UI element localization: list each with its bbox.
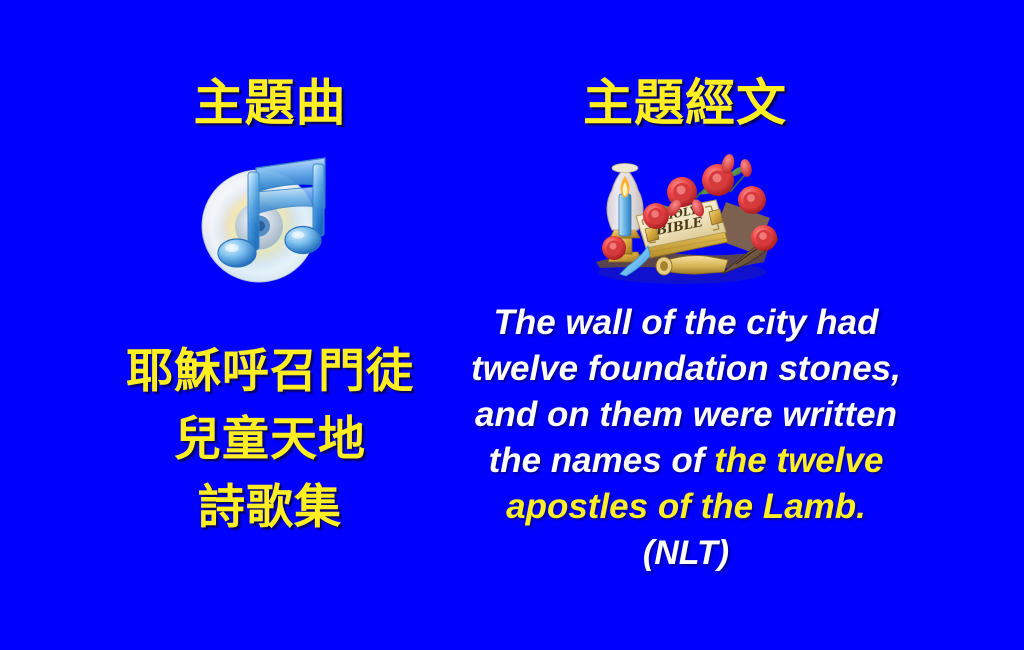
scripture-line-highlight: the twelve bbox=[714, 441, 883, 480]
scripture-line-plain: and on them were written bbox=[475, 395, 897, 434]
rose bbox=[751, 225, 777, 251]
scripture-line: The wall of the city had bbox=[430, 300, 942, 346]
scripture-line-plain: The wall of the city had bbox=[493, 303, 878, 342]
rose bbox=[643, 203, 669, 229]
scripture-attribution: (NLT) bbox=[430, 530, 942, 576]
scripture-line-plain: the names of bbox=[489, 441, 715, 480]
holy-bible-roses-lamp-icon: HOLY BIBLE bbox=[578, 150, 786, 290]
scripture-line: twelve foundation stones, bbox=[430, 346, 942, 392]
rose bbox=[738, 186, 766, 214]
scripture-line: the names of the twelve bbox=[430, 438, 942, 484]
scripture-line-plain: twelve foundation stones, bbox=[471, 349, 901, 388]
scripture-line-highlight: apostles of the Lamb. bbox=[506, 487, 866, 526]
scripture-section-heading: 主題經文 bbox=[440, 78, 930, 128]
slide-canvas: 主題曲 bbox=[0, 0, 1024, 650]
itunes-cd-music-note-icon bbox=[193, 152, 341, 284]
scripture-text-block: The wall of the city had twelve foundati… bbox=[430, 300, 942, 576]
scripture-line: apostles of the Lamb. bbox=[430, 484, 942, 530]
rose bbox=[602, 236, 626, 260]
scripture-line: and on them were written bbox=[430, 392, 942, 438]
